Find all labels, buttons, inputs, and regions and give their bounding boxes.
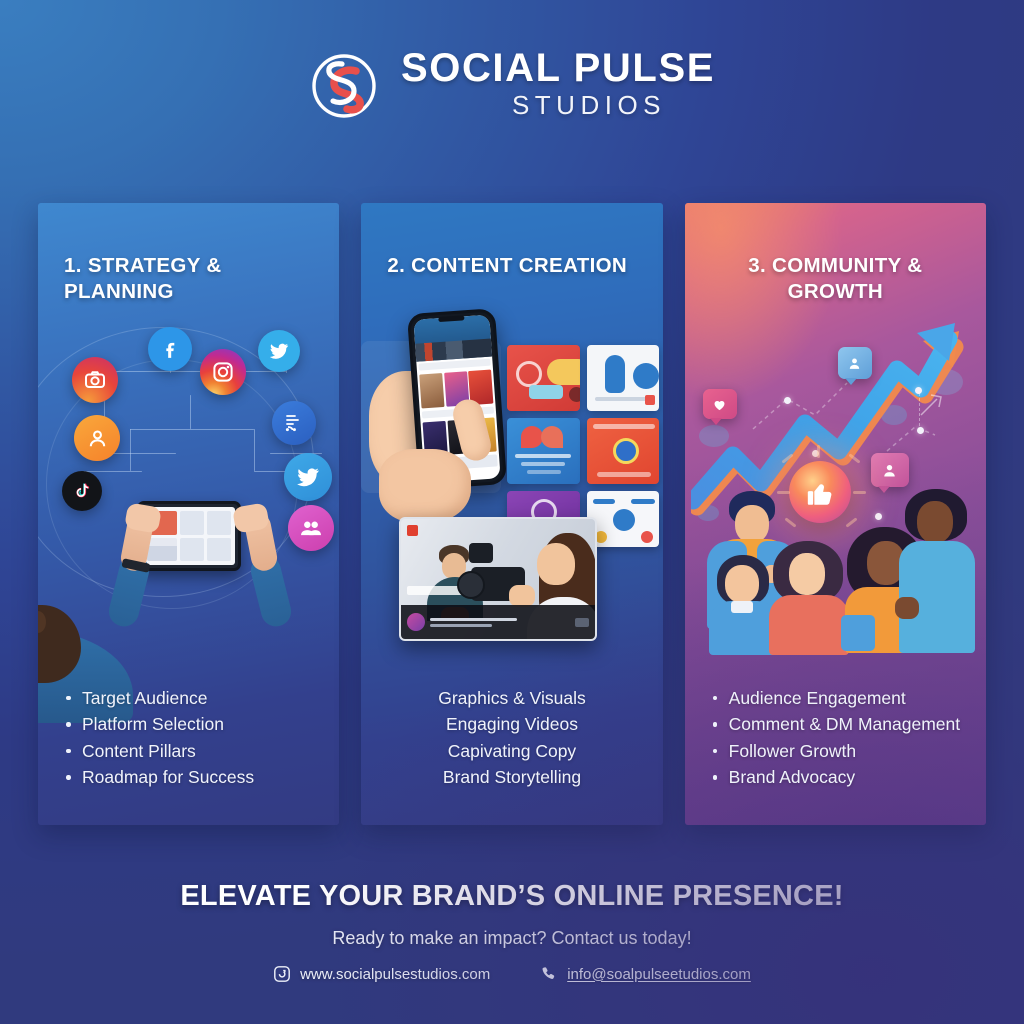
held-tablet bbox=[841, 615, 875, 651]
design-tile bbox=[507, 418, 580, 484]
avatar bbox=[407, 613, 425, 631]
person bbox=[767, 541, 851, 651]
torso bbox=[769, 595, 849, 655]
collar bbox=[731, 601, 753, 613]
stream-overlay-bar bbox=[401, 605, 595, 639]
footer: ELEVATE YOUR BRAND’S ONLINE PRESENCE! Re… bbox=[0, 880, 1024, 983]
screen-tile bbox=[207, 538, 231, 562]
list-item: Content Pillars bbox=[64, 738, 317, 765]
pillar-cards: 1. STRATEGY & PLANNING bbox=[38, 203, 986, 825]
head bbox=[725, 565, 759, 603]
connector-line bbox=[130, 429, 131, 471]
camera-on-stand bbox=[469, 543, 493, 563]
hand-base bbox=[379, 449, 471, 523]
overlay-button[interactable] bbox=[575, 618, 589, 627]
profile-speech-bubble-icon[interactable] bbox=[871, 453, 909, 487]
head bbox=[917, 501, 953, 543]
twitter-bird-icon[interactable] bbox=[258, 330, 300, 372]
contact-row: www.socialpulsestudios.com info@soalpuls… bbox=[0, 965, 1024, 983]
card-list: Audience Engagement Comment & DM Managem… bbox=[685, 685, 986, 825]
head bbox=[735, 505, 769, 543]
list-item: Engaging Videos bbox=[383, 711, 640, 738]
list-item: Audience Engagement bbox=[711, 685, 964, 712]
social-network-tablet-illustration bbox=[38, 305, 339, 684]
heart-speech-bubble-icon[interactable] bbox=[703, 389, 737, 419]
card-content-creation[interactable]: 2. CONTENT CREATION bbox=[361, 203, 662, 825]
cta-subtitle: Ready to make an impact? Contact us toda… bbox=[0, 928, 1024, 949]
hand bbox=[895, 597, 919, 619]
card-list: Graphics & Visuals Engaging Videos Capiv… bbox=[361, 685, 662, 825]
list-item: Brand Advocacy bbox=[711, 764, 964, 791]
screen-tile bbox=[147, 538, 177, 562]
card-title: 1. STRATEGY & PLANNING bbox=[38, 203, 339, 305]
card-strategy-planning[interactable]: 1. STRATEGY & PLANNING bbox=[38, 203, 339, 825]
screen-tile bbox=[180, 538, 204, 562]
brand-name-primary: SOCIAL PULSE bbox=[401, 48, 715, 88]
list-item: Brand Storytelling bbox=[383, 764, 640, 791]
design-tile bbox=[587, 418, 660, 484]
cta-headline: ELEVATE YOUR BRAND’S ONLINE PRESENCE! bbox=[0, 880, 1024, 913]
phone-handset-icon bbox=[540, 965, 558, 983]
list-item: Target Audience bbox=[64, 685, 317, 712]
twitter-bird-icon[interactable] bbox=[284, 453, 332, 501]
list-item: Capivating Copy bbox=[383, 738, 640, 765]
live-indicator bbox=[407, 525, 418, 536]
overlay-text-lines bbox=[430, 618, 570, 627]
thumbs-up-icon[interactable] bbox=[789, 461, 851, 523]
list-item: Roadmap for Success bbox=[64, 764, 317, 791]
email-contact[interactable]: info@soalpulseetudios.com bbox=[540, 965, 751, 983]
list-item: Follower Growth bbox=[711, 738, 964, 765]
screen-tile bbox=[180, 511, 204, 535]
instagram-icon bbox=[273, 965, 291, 983]
list-item: Platform Selection bbox=[64, 711, 317, 738]
design-tile bbox=[507, 345, 580, 411]
infographic-canvas: SOCIAL PULSE STUDIOS 1. STRATEGY & PLANN… bbox=[0, 0, 1024, 1024]
person bbox=[897, 489, 979, 651]
group-users-icon[interactable] bbox=[288, 505, 334, 551]
profile-speech-bubble-icon[interactable] bbox=[838, 347, 872, 379]
brand-logo: SOCIAL PULSE STUDIOS bbox=[0, 48, 1024, 123]
head bbox=[789, 553, 825, 595]
feed-thumb bbox=[419, 373, 444, 409]
website-contact[interactable]: www.socialpulsestudios.com bbox=[273, 965, 490, 983]
card-community-growth[interactable]: 3. COMMUNITY & GROWTH bbox=[685, 203, 986, 825]
brand-name-secondary: STUDIOS bbox=[450, 88, 666, 123]
list-item: Comment & DM Management bbox=[711, 711, 964, 738]
feed-hero-image bbox=[414, 315, 493, 362]
card-title: 2. CONTENT CREATION bbox=[361, 203, 662, 279]
design-tile bbox=[587, 345, 660, 411]
hand bbox=[509, 585, 535, 607]
phone-feed-and-design-tiles-illustration bbox=[361, 279, 662, 684]
head bbox=[537, 543, 575, 585]
glow-ray bbox=[817, 445, 820, 458]
growth-arrow-community-illustration bbox=[685, 305, 986, 684]
connector-line bbox=[919, 393, 921, 431]
card-title: 3. COMMUNITY & GROWTH bbox=[685, 203, 986, 305]
connector-line bbox=[190, 395, 191, 429]
design-tile bbox=[587, 491, 660, 547]
video-production-photo bbox=[399, 517, 597, 641]
connector-line bbox=[254, 429, 255, 471]
list-item: Graphics & Visuals bbox=[383, 685, 640, 712]
social-pulse-s-monogram-icon bbox=[309, 51, 379, 121]
card-list: Target Audience Platform Selection Conte… bbox=[38, 685, 339, 825]
screen-tile bbox=[207, 511, 231, 535]
website-url: www.socialpulsestudios.com bbox=[300, 966, 490, 983]
email-address: info@soalpulseetudios.com bbox=[567, 966, 751, 983]
